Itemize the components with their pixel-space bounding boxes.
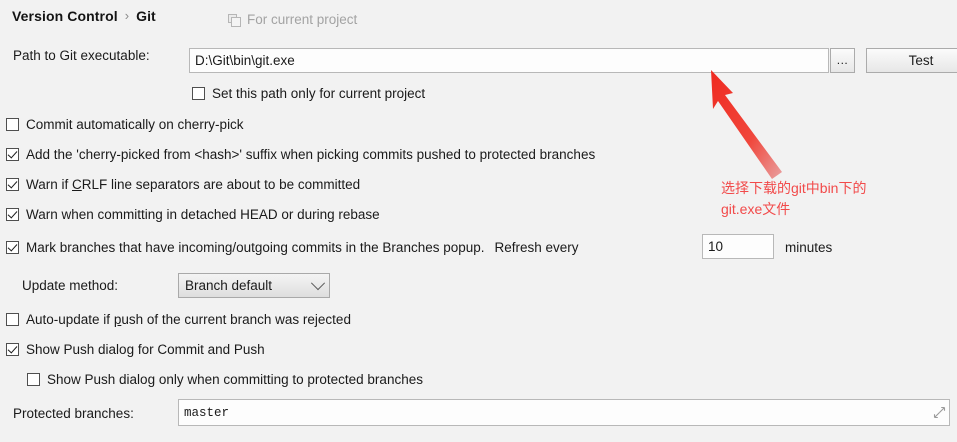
- breadcrumb-item-version-control[interactable]: Version Control: [12, 8, 118, 24]
- checkbox-row-warn-crlf-line-separators[interactable]: Warn if CRLF line separators are about t…: [6, 177, 360, 192]
- update-method-value: Branch default: [185, 278, 313, 293]
- checkbox-set-path-only-current-project[interactable]: [192, 87, 205, 100]
- checkbox-mark-branches[interactable]: [6, 241, 19, 254]
- update-method-row: Update method:: [22, 278, 118, 293]
- breadcrumb-item-git[interactable]: Git: [136, 8, 156, 24]
- checkbox-label-commit-automatically-cherry-pick: Commit automatically on cherry-pick: [26, 117, 244, 132]
- protected-branches-row: Protected branches:: [13, 406, 134, 421]
- chevron-down-icon: [311, 276, 325, 290]
- refresh-every-label: Refresh every: [495, 240, 579, 255]
- for-current-project-indicator: For current project: [228, 12, 357, 27]
- checkbox-show-push-dialog-protected-branches[interactable]: [27, 373, 40, 386]
- protected-branches-input[interactable]: [178, 399, 950, 426]
- checkbox-label-add-cherry-picked-from-suffix: Add the 'cherry-picked from <hash>' suff…: [26, 147, 595, 162]
- checkbox-row-mark-branches[interactable]: Mark branches that have incoming/outgoin…: [6, 240, 579, 255]
- checkbox-row-commit-automatically-cherry-pick[interactable]: Commit automatically on cherry-pick: [6, 117, 244, 132]
- resize-grip-icon[interactable]: [932, 406, 946, 420]
- checkbox-commit-automatically-cherry-pick[interactable]: [6, 118, 19, 131]
- minutes-unit-label-wrap: minutes: [785, 240, 832, 255]
- checkbox-row-show-push-dialog-protected-branches[interactable]: Show Push dialog only when committing to…: [27, 372, 423, 387]
- checkbox-add-cherry-picked-from-suffix[interactable]: [6, 148, 19, 161]
- checkbox-label-set-path-only-current-project: Set this path only for current project: [212, 86, 425, 101]
- protected-branches-field-wrap: [178, 399, 950, 426]
- test-button[interactable]: Test: [866, 48, 957, 73]
- breadcrumb-separator-icon: ›: [125, 8, 129, 23]
- checkbox-label-warn-crlf-line-separators: Warn if CRLF line separators are about t…: [26, 177, 360, 192]
- checkbox-row-set-path-only-current-project[interactable]: Set this path only for current project: [192, 86, 425, 101]
- checkbox-label-mark-branches: Mark branches that have incoming/outgoin…: [26, 240, 485, 255]
- settings-page: Version Control › Git For current projec…: [0, 0, 957, 442]
- protected-branches-label: Protected branches:: [13, 406, 134, 421]
- checkbox-show-push-dialog-commit-and-push[interactable]: [6, 343, 19, 356]
- checkbox-label-show-push-dialog-commit-and-push: Show Push dialog for Commit and Push: [26, 342, 265, 357]
- checkbox-label-show-push-dialog-protected-branches: Show Push dialog only when committing to…: [47, 372, 423, 387]
- refresh-interval-input[interactable]: [702, 234, 774, 259]
- checkbox-row-show-push-dialog-commit-and-push[interactable]: Show Push dialog for Commit and Push: [6, 342, 265, 357]
- breadcrumb: Version Control › Git: [12, 8, 156, 24]
- checkbox-warn-crlf-line-separators[interactable]: [6, 178, 19, 191]
- checkbox-row-add-cherry-picked-from-suffix[interactable]: Add the 'cherry-picked from <hash>' suff…: [6, 147, 595, 162]
- checkbox-row-warn-detached-head[interactable]: Warn when committing in detached HEAD or…: [6, 207, 380, 222]
- checkbox-warn-detached-head[interactable]: [6, 208, 19, 221]
- annotation-text: 选择下载的git中bin下的 git.exe文件: [721, 178, 921, 220]
- path-to-git-input[interactable]: [189, 48, 829, 73]
- minutes-unit-label: minutes: [785, 240, 832, 255]
- path-to-git-label: Path to Git executable:: [13, 48, 150, 63]
- for-current-project-label: For current project: [247, 12, 357, 27]
- checkbox-auto-update-push-rejected[interactable]: [6, 313, 19, 326]
- checkbox-label-auto-update-push-rejected: Auto-update if push of the current branc…: [26, 312, 351, 327]
- checkbox-row-auto-update-push-rejected[interactable]: Auto-update if push of the current branc…: [6, 312, 351, 327]
- update-method-dropdown[interactable]: Branch default: [178, 273, 330, 298]
- module-icon: [228, 14, 241, 27]
- browse-button[interactable]: ...: [830, 48, 855, 73]
- checkbox-label-warn-detached-head: Warn when committing in detached HEAD or…: [26, 207, 380, 222]
- path-to-git-row: Path to Git executable:: [13, 48, 150, 63]
- update-method-label: Update method:: [22, 278, 118, 293]
